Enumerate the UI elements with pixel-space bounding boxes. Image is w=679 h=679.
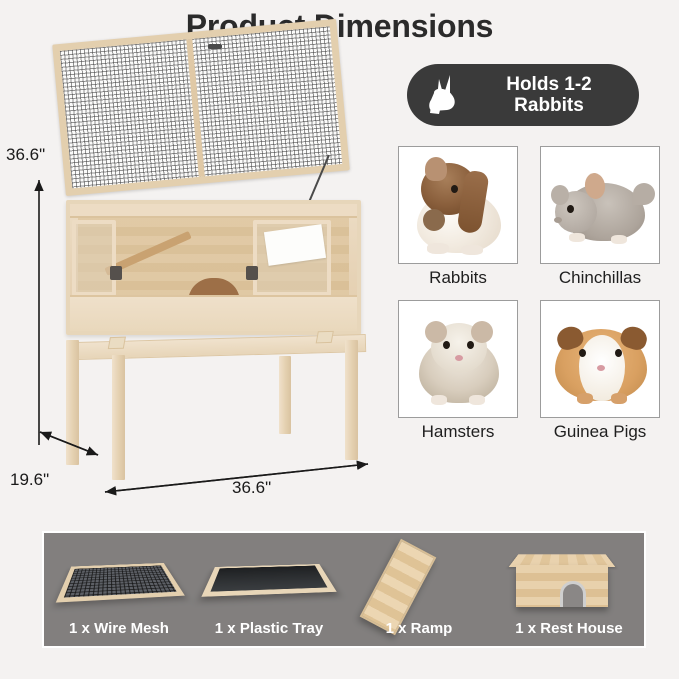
wooden-rest-house-icon [494, 541, 644, 609]
hutch-leg [66, 340, 79, 465]
accessory-label: 1 x Plastic Tray [194, 620, 344, 637]
chinchilla-photo [540, 146, 660, 264]
rail-tab [316, 331, 334, 344]
rabbit-head-icon [417, 73, 465, 117]
door-latch-right-icon [246, 266, 258, 280]
compatible-animals-grid: Rabbits Chinchillas Hamsters [398, 146, 660, 442]
dimension-height-label: 36.6" [6, 145, 45, 165]
accessory-label: 1 x Rest House [494, 620, 644, 637]
guinea-pig-photo [540, 300, 660, 418]
wooden-ramp-icon [344, 541, 494, 609]
holds-rabbits-badge: Holds 1-2 Rabbits [407, 64, 639, 126]
animal-label: Hamsters [398, 422, 518, 442]
lid-hinge-icon [208, 44, 222, 49]
accessory-ramp: 1 x Ramp [344, 533, 494, 646]
animal-card-hamsters: Hamsters [398, 300, 518, 442]
hutch-leg [279, 356, 291, 434]
animal-card-guinea-pigs: Guinea Pigs [540, 300, 660, 442]
animal-card-rabbits: Rabbits [398, 146, 518, 288]
hutch-door-left [72, 220, 116, 296]
hutch-leg [345, 340, 358, 460]
holds-badge-label: Holds 1-2 Rabbits [465, 74, 639, 117]
accessory-label: 1 x Ramp [344, 620, 494, 637]
hutch-lower-skirt [70, 295, 357, 331]
animal-label: Rabbits [398, 268, 518, 288]
accessory-wire-mesh: 1 x Wire Mesh [44, 533, 194, 646]
wire-mesh-panel-icon [44, 541, 194, 609]
accessory-label: 1 x Wire Mesh [44, 620, 194, 637]
rabbit-photo [398, 146, 518, 264]
hutch-top-rail [70, 204, 357, 218]
accessory-plastic-tray: 1 x Plastic Tray [194, 533, 344, 646]
animal-label: Guinea Pigs [540, 422, 660, 442]
hutch-leg [112, 355, 125, 480]
included-accessories-strip: 1 x Wire Mesh 1 x Plastic Tray 1 x Ramp … [42, 531, 646, 648]
plastic-tray-icon [194, 541, 344, 609]
hutch-lid [52, 19, 350, 196]
animal-label: Chinchillas [540, 268, 660, 288]
accessory-rest-house: 1 x Rest House [494, 533, 644, 646]
rail-tab [108, 337, 126, 350]
dimension-width-label: 36.6" [232, 478, 271, 498]
product-image [38, 40, 383, 480]
dimension-depth-label: 19.6" [10, 470, 49, 490]
door-latch-left-icon [110, 266, 122, 280]
animal-card-chinchillas: Chinchillas [540, 146, 660, 288]
hamster-photo [398, 300, 518, 418]
hutch-body [66, 200, 361, 335]
